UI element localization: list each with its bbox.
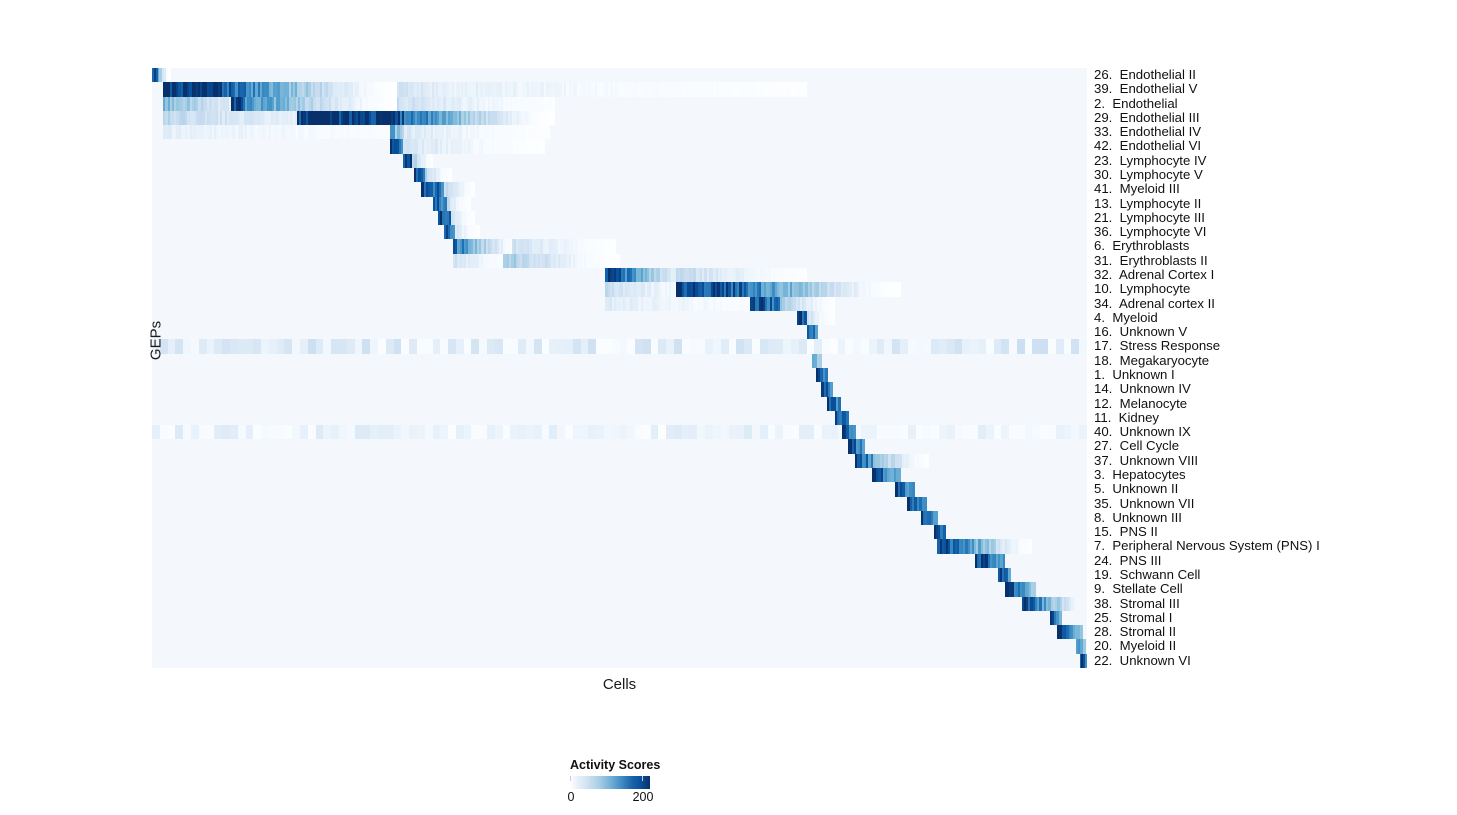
row-label: 34. Adrenal cortex II	[1094, 297, 1215, 311]
heatmap-cell-group	[552, 111, 555, 125]
heatmap-cell-group	[1079, 339, 1087, 353]
row-label-number: 16.	[1094, 325, 1112, 339]
heatmap-cell-group	[804, 82, 807, 96]
row-label-number: 4.	[1094, 311, 1105, 325]
heatmap-cell-group	[472, 211, 475, 225]
colorbar-tick-high	[642, 776, 643, 781]
heatmap-cell-group	[1083, 639, 1086, 653]
row-label-number: 40.	[1094, 425, 1112, 439]
row-label-text: Lymphocyte II	[1112, 196, 1201, 211]
row-label-number: 23.	[1094, 154, 1112, 168]
row-label-number: 20.	[1094, 639, 1112, 653]
colorbar-tick-low	[570, 776, 571, 781]
row-label: 13. Lymphocyte II	[1094, 197, 1201, 211]
row-label-text: Endothelial IV	[1112, 124, 1201, 139]
row-label-text: Endothelial II	[1112, 67, 1196, 82]
row-label-number: 27.	[1094, 439, 1112, 453]
row-label-text: Lymphocyte VI	[1112, 224, 1206, 239]
colorbar-title: Activity Scores	[570, 758, 660, 772]
row-label: 3. Hepatocytes	[1094, 468, 1186, 482]
heatmap-row	[152, 639, 1087, 653]
row-label-text: Kidney	[1111, 410, 1159, 425]
heatmap-row	[152, 225, 1087, 239]
row-label-text: Endothelial VI	[1112, 138, 1201, 153]
row-label-text: Lymphocyte V	[1112, 167, 1202, 182]
row-label-number: 19.	[1094, 568, 1112, 582]
heatmap-row	[152, 625, 1087, 639]
row-label-text: Lymphocyte IV	[1112, 153, 1206, 168]
row-label-text: Schwann Cell	[1112, 567, 1200, 582]
row-label-text: Peripheral Nervous System (PNS) I	[1105, 538, 1320, 553]
heatmap-row	[152, 211, 1087, 225]
heatmap-row	[152, 254, 1087, 268]
row-label-text: Unknown VII	[1112, 496, 1194, 511]
heatmap-row	[152, 354, 1087, 368]
row-label-number: 15.	[1094, 525, 1112, 539]
row-label: 27. Cell Cycle	[1094, 439, 1179, 453]
row-label-text: Cell Cycle	[1112, 438, 1179, 453]
row-label-number: 14.	[1094, 382, 1112, 396]
heatmap-cell-group	[547, 125, 550, 139]
row-label: 2. Endothelial	[1094, 97, 1178, 111]
row-label: 28. Stromal II	[1094, 625, 1176, 639]
heatmap-row	[152, 611, 1087, 625]
row-label: 40. Unknown IX	[1094, 425, 1191, 439]
row-label-text: Adrenal cortex II	[1112, 296, 1215, 311]
heatmap-cell-group	[898, 282, 901, 296]
heatmap-cell-group	[815, 325, 818, 339]
row-label-number: 24.	[1094, 554, 1112, 568]
heatmap-row	[152, 168, 1087, 182]
heatmap-row	[152, 654, 1087, 668]
row-label-number: 28.	[1094, 625, 1112, 639]
heatmap-row	[152, 511, 1087, 525]
row-label-text: Myeloid II	[1112, 638, 1176, 653]
row-label-text: Unknown IX	[1112, 424, 1190, 439]
row-label-text: PNS III	[1112, 553, 1161, 568]
heatmap-row	[152, 68, 1087, 82]
row-label-text: Stress Response	[1112, 338, 1220, 353]
row-label: 14. Unknown IV	[1094, 382, 1191, 396]
heatmap-cell-group	[830, 382, 833, 396]
heatmap-row	[152, 82, 1087, 96]
heatmap-row	[152, 554, 1087, 568]
heatmap-row	[152, 411, 1087, 425]
heatmap-cell-group	[468, 197, 471, 211]
heatmap-cell-group	[819, 354, 822, 368]
row-label: 25. Stromal I	[1094, 611, 1172, 625]
heatmap-cell-group	[613, 239, 616, 253]
colorbar-legend: Activity Scores 0 200	[500, 758, 760, 815]
row-label-number: 11.	[1094, 411, 1111, 425]
row-label-text: Unknown VIII	[1112, 453, 1198, 468]
heatmap-cell-group	[912, 482, 915, 496]
row-label: 9. Stellate Cell	[1094, 582, 1183, 596]
row-label: 38. Stromal III	[1094, 597, 1180, 611]
row-label-text: Endothelial III	[1112, 110, 1199, 125]
heatmap-cell-group	[1029, 539, 1032, 553]
row-label-number: 41.	[1094, 182, 1112, 196]
heatmap-cell-group	[543, 139, 546, 153]
heatmap-cell-group	[943, 525, 946, 539]
heatmap-row	[152, 425, 1087, 439]
row-label-number: 13.	[1094, 197, 1112, 211]
row-label-text: Stromal II	[1112, 624, 1176, 639]
heatmap-cell-group	[552, 97, 555, 111]
heatmap-cell-group	[1079, 425, 1087, 439]
row-label: 23. Lymphocyte IV	[1094, 154, 1206, 168]
heatmap-row	[152, 311, 1087, 325]
heatmap-row	[152, 582, 1087, 596]
row-label-text: Erythroblasts	[1105, 238, 1189, 253]
heatmap-cell-group	[449, 168, 452, 182]
row-label-text: PNS II	[1112, 524, 1157, 539]
x-axis-label: Cells	[152, 676, 1087, 693]
row-label-number: 25.	[1094, 611, 1112, 625]
row-label-list: 26. Endothelial II39. Endothelial V2. En…	[1094, 68, 1454, 668]
heatmap-cell-group	[804, 268, 807, 282]
row-label-number: 21.	[1094, 211, 1112, 225]
heatmap-cell-group	[430, 154, 433, 168]
heatmap-cell-group	[862, 439, 865, 453]
heatmap-row	[152, 439, 1087, 453]
heatmap-row	[152, 339, 1087, 353]
row-label-text: Stromal III	[1112, 596, 1179, 611]
row-label-text: Unknown VI	[1112, 653, 1190, 668]
row-label-number: 26.	[1094, 68, 1112, 82]
row-label: 20. Myeloid II	[1094, 639, 1176, 653]
row-label-number: 42.	[1094, 139, 1112, 153]
colorbar-ticklabel-high: 200	[633, 790, 654, 804]
y-axis-label: GEPs	[148, 301, 165, 381]
row-label-text: Lymphocyte	[1112, 281, 1190, 296]
colorbar-gradient	[570, 776, 650, 789]
row-label-number: 10.	[1094, 282, 1112, 296]
row-label-text: Stellate Cell	[1105, 581, 1183, 596]
heatmap-row	[152, 154, 1087, 168]
heatmap-cell-group	[924, 497, 927, 511]
row-label-number: 9.	[1094, 582, 1105, 596]
row-label: 32. Adrenal Cortex I	[1094, 268, 1214, 282]
row-label: 8. Unknown III	[1094, 511, 1182, 525]
row-label: 19. Schwann Cell	[1094, 568, 1200, 582]
heatmap-cell-group	[832, 297, 835, 311]
row-label: 26. Endothelial II	[1094, 68, 1196, 82]
heatmap-figure: GEPs Cells 26. Endothelial II39. Endothe…	[0, 0, 1457, 815]
heatmap-row	[152, 568, 1087, 582]
row-label-number: 35.	[1094, 497, 1112, 511]
row-label-number: 18.	[1094, 354, 1112, 368]
heatmap-row	[152, 268, 1087, 282]
heatmap-cell-group	[1080, 625, 1083, 639]
heatmap-cell-group	[1059, 611, 1062, 625]
row-label-text: Hepatocytes	[1105, 467, 1186, 482]
row-label: 31. Erythroblasts II	[1094, 254, 1208, 268]
heatmap-cell-group	[832, 311, 835, 325]
row-label-text: Unknown I	[1105, 367, 1175, 382]
row-label-number: 2.	[1094, 97, 1105, 111]
row-label: 42. Endothelial VI	[1094, 139, 1201, 153]
heatmap-plot[interactable]	[152, 68, 1087, 668]
heatmap-cell-group	[935, 511, 938, 525]
row-label-text: Myeloid	[1105, 310, 1158, 325]
heatmap-row	[152, 111, 1087, 125]
heatmap-row	[152, 139, 1087, 153]
heatmap-row	[152, 539, 1087, 553]
heatmap-cell-group	[168, 68, 171, 82]
heatmap-row	[152, 197, 1087, 211]
heatmap-row	[152, 497, 1087, 511]
row-label-number: 32.	[1094, 268, 1112, 282]
row-label-text: Melanocyte	[1112, 396, 1187, 411]
row-label-number: 6.	[1094, 239, 1105, 253]
row-label-number: 36.	[1094, 225, 1112, 239]
heatmap-row	[152, 368, 1087, 382]
heatmap-row	[152, 454, 1087, 468]
row-label-text: Unknown V	[1112, 324, 1187, 339]
row-label-number: 17.	[1094, 339, 1112, 353]
row-label-number: 31.	[1094, 254, 1112, 268]
heatmap-cell-group	[926, 454, 929, 468]
row-label-text: Erythroblasts II	[1112, 253, 1207, 268]
heatmap-cell-group	[1033, 582, 1036, 596]
row-label-number: 8.	[1094, 511, 1105, 525]
row-label-number: 37.	[1094, 454, 1112, 468]
row-label: 36. Lymphocyte VI	[1094, 225, 1206, 239]
row-label: 6. Erythroblasts	[1094, 239, 1189, 253]
row-label: 10. Lymphocyte	[1094, 282, 1190, 296]
row-label-text: Unknown IV	[1112, 381, 1190, 396]
heatmap-cell-group	[1003, 554, 1006, 568]
heatmap-cell-group	[846, 411, 849, 425]
row-label-number: 5.	[1094, 482, 1105, 496]
heatmap-cell-group	[898, 468, 901, 482]
row-label-text: Myeloid III	[1112, 181, 1179, 196]
row-label-number: 3.	[1094, 468, 1105, 482]
row-label-number: 12.	[1094, 397, 1112, 411]
row-label-text: Adrenal Cortex I	[1112, 267, 1214, 282]
row-label: 35. Unknown VII	[1094, 497, 1194, 511]
heatmap-row	[152, 382, 1087, 396]
heatmap-row	[152, 282, 1087, 296]
row-label: 30. Lymphocyte V	[1094, 168, 1203, 182]
row-label: 37. Unknown VIII	[1094, 454, 1198, 468]
row-label: 17. Stress Response	[1094, 339, 1220, 353]
row-label-text: Unknown II	[1105, 481, 1178, 496]
row-label: 15. PNS II	[1094, 525, 1158, 539]
row-label: 4. Myeloid	[1094, 311, 1158, 325]
row-label-text: Lymphocyte III	[1112, 210, 1205, 225]
heatmap-row	[152, 597, 1087, 611]
row-label: 39. Endothelial V	[1094, 82, 1197, 96]
row-label-text: Unknown III	[1105, 510, 1182, 525]
row-label: 11. Kidney	[1094, 411, 1159, 425]
heatmap-cell-group	[838, 397, 841, 411]
row-label: 21. Lymphocyte III	[1094, 211, 1205, 225]
row-label-text: Endothelial V	[1112, 81, 1197, 96]
heatmap-cell-group	[1008, 568, 1011, 582]
row-label-number: 22.	[1094, 654, 1112, 668]
row-label: 16. Unknown V	[1094, 325, 1187, 339]
row-label-number: 7.	[1094, 539, 1105, 553]
heatmap-cell-group	[825, 368, 828, 382]
heatmap-cell-group	[1085, 654, 1087, 668]
heatmap-row	[152, 482, 1087, 496]
row-label-number: 29.	[1094, 111, 1112, 125]
row-label: 24. PNS III	[1094, 554, 1161, 568]
heatmap-row	[152, 397, 1087, 411]
row-label-number: 1.	[1094, 368, 1105, 382]
row-label-number: 39.	[1094, 82, 1112, 96]
row-label: 41. Myeloid III	[1094, 182, 1180, 196]
heatmap-row	[152, 239, 1087, 253]
heatmap-cell-group	[617, 254, 620, 268]
heatmap-row	[152, 525, 1087, 539]
heatmap-row	[152, 125, 1087, 139]
row-label: 1. Unknown I	[1094, 368, 1175, 382]
row-label: 5. Unknown II	[1094, 482, 1178, 496]
row-label: 7. Peripheral Nervous System (PNS) I	[1094, 539, 1320, 553]
row-label: 18. Megakaryocyte	[1094, 354, 1209, 368]
heatmap-row	[152, 325, 1087, 339]
row-label: 29. Endothelial III	[1094, 111, 1200, 125]
heatmap-cell-group	[477, 225, 480, 239]
row-label-number: 38.	[1094, 597, 1112, 611]
colorbar-ticklabel-low: 0	[568, 790, 575, 804]
heatmap-row	[152, 97, 1087, 111]
row-label-text: Endothelial	[1105, 96, 1178, 111]
row-label-number: 30.	[1094, 168, 1112, 182]
heatmap-cell-group	[853, 425, 856, 439]
row-label: 33. Endothelial IV	[1094, 125, 1201, 139]
row-label: 22. Unknown VI	[1094, 654, 1191, 668]
row-label-number: 33.	[1094, 125, 1112, 139]
heatmap-cell-group	[472, 182, 475, 196]
row-label-number: 34.	[1094, 297, 1112, 311]
heatmap-cell-group	[1071, 597, 1074, 611]
heatmap-row	[152, 182, 1087, 196]
row-label-text: Megakaryocyte	[1112, 353, 1209, 368]
heatmap-row	[152, 297, 1087, 311]
heatmap-row	[152, 468, 1087, 482]
row-label: 12. Melanocyte	[1094, 397, 1187, 411]
row-label-text: Stromal I	[1112, 610, 1172, 625]
